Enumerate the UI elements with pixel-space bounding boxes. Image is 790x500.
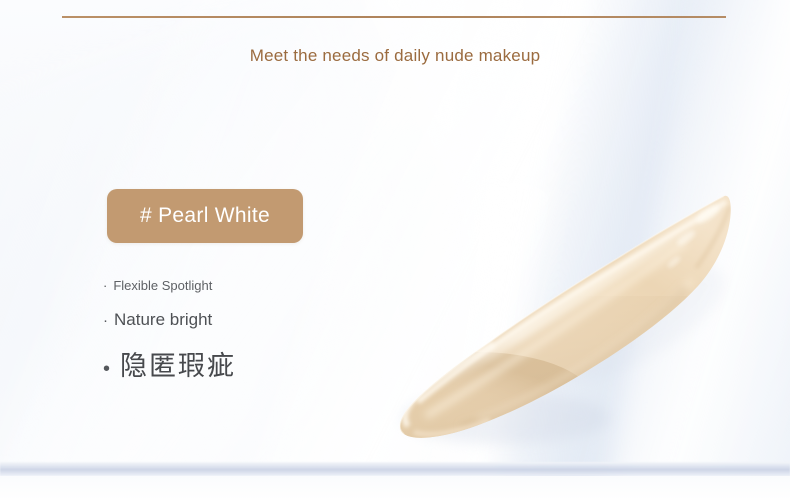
feature-label: 隐匿瑕疵: [120, 344, 236, 383]
shade-name-badge[interactable]: # Pearl White: [107, 189, 303, 243]
bullet-icon: •: [103, 358, 112, 381]
silk-fold-left: [0, 5, 429, 500]
list-item: • 隐匿瑕疵: [103, 344, 363, 383]
product-banner: Meet the needs of daily nude makeup # Pe…: [0, 0, 790, 500]
page-title: Meet the needs of daily nude makeup: [0, 46, 790, 66]
surface-foreground: [0, 476, 790, 500]
list-item: · Flexible Spotlight: [103, 278, 363, 293]
bullet-icon: ·: [103, 312, 108, 329]
surface-band: [0, 462, 790, 476]
shade-name-label: # Pearl White: [140, 204, 270, 228]
feature-label: Flexible Spotlight: [113, 278, 212, 293]
feature-list: · Flexible Spotlight · Nature bright • 隐…: [103, 278, 363, 383]
top-divider-rule: [62, 16, 726, 18]
bullet-icon: ·: [103, 278, 107, 293]
foundation-swatch: [386, 176, 746, 444]
foundation-cream-smear: [386, 176, 746, 444]
feature-label: Nature bright: [114, 310, 212, 330]
list-item: · Nature bright: [103, 310, 363, 330]
